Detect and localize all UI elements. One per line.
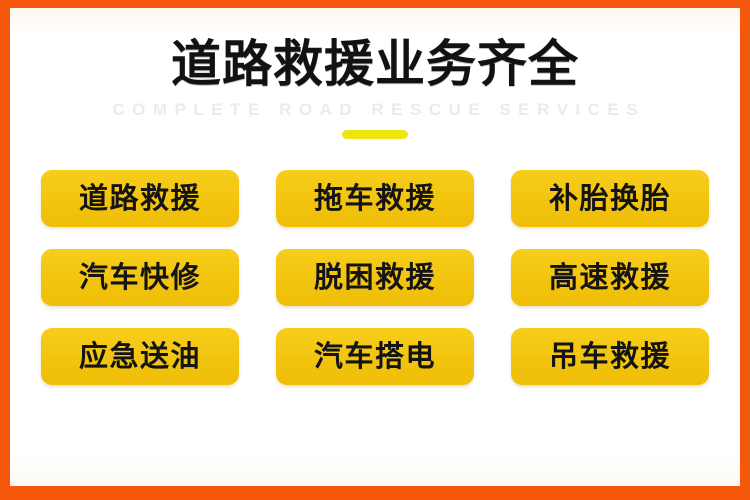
service-chip-extrication-rescue[interactable]: 脱困救援 [276,249,474,306]
service-chip-label: 拖车救援 [314,184,436,213]
service-chip-highway-rescue[interactable]: 高速救援 [511,249,709,306]
page-subtitle: COMPLETE ROAD RESCUE SERVICES [10,100,740,120]
poster-root: 道路救援业务齐全 COMPLETE ROAD RESCUE SERVICES 道… [0,0,750,500]
service-chip-jump-start[interactable]: 汽车搭电 [276,328,474,385]
service-chip-label: 汽车搭电 [314,342,436,371]
accent-divider [342,130,408,139]
service-chip-crane-rescue[interactable]: 吊车救援 [511,328,709,385]
service-chip-label: 补胎换胎 [549,184,671,213]
poster-header: 道路救援业务齐全 COMPLETE ROAD RESCUE SERVICES [10,8,740,139]
service-chip-road-rescue[interactable]: 道路救援 [41,170,239,227]
service-chip-label: 高速救援 [549,263,671,292]
service-grid: 道路救援 拖车救援 补胎换胎 汽车快修 脱困救援 高速救援 应急送油 汽车搭电 [41,170,709,385]
service-chip-label: 应急送油 [79,342,201,371]
poster-card: 道路救援业务齐全 COMPLETE ROAD RESCUE SERVICES 道… [10,8,740,486]
service-chip-tire-repair-replace[interactable]: 补胎换胎 [511,170,709,227]
service-chip-label: 脱困救援 [314,263,436,292]
service-chip-label: 汽车快修 [79,263,201,292]
service-chip-label: 道路救援 [79,184,201,213]
service-chip-tow-rescue[interactable]: 拖车救援 [276,170,474,227]
service-chip-quick-car-repair[interactable]: 汽车快修 [41,249,239,306]
service-chip-label: 吊车救援 [549,342,671,371]
page-title: 道路救援业务齐全 [10,38,740,91]
service-chip-emergency-fuel[interactable]: 应急送油 [41,328,239,385]
